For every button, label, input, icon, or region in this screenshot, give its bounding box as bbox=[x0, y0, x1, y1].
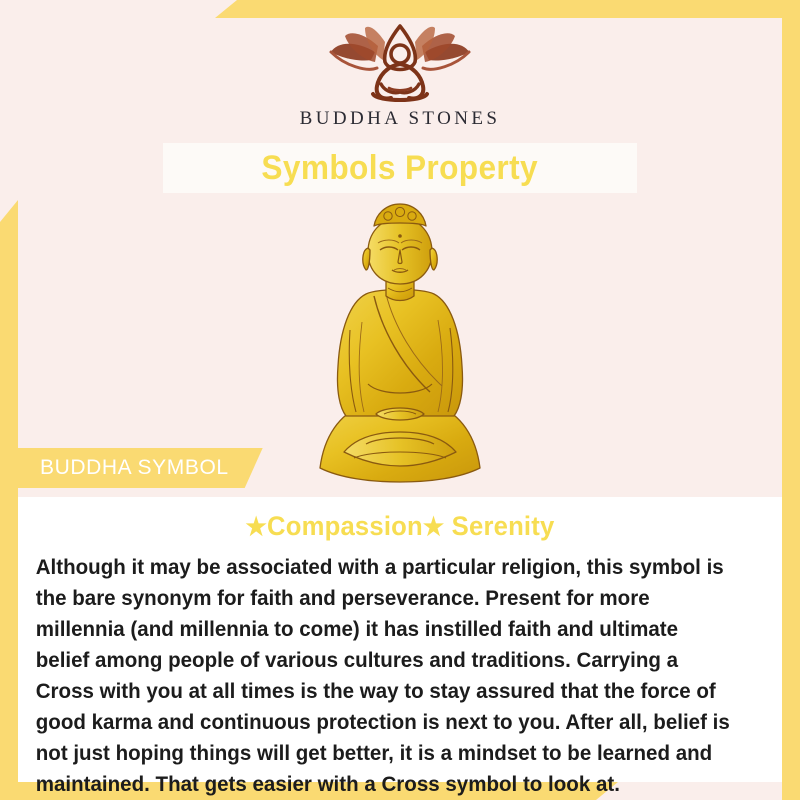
brand-logo: BUDDHA STONES bbox=[0, 22, 800, 130]
decorative-band-left bbox=[0, 200, 18, 800]
infographic-poster: BUDDHA STONES Symbols Property bbox=[0, 0, 800, 800]
section-ribbon: BUDDHA SYMBOL bbox=[18, 448, 263, 488]
star-icon-1: ★ bbox=[246, 513, 267, 541]
content-subtitle: ★Compassion★ Serenity bbox=[49, 511, 752, 542]
ribbon-label: BUDDHA SYMBOL bbox=[40, 456, 229, 480]
page-title: Symbols Property bbox=[262, 149, 539, 188]
lotus-meditation-figure-icon bbox=[315, 22, 485, 104]
buddha-illustration bbox=[310, 200, 490, 492]
content-card: ★Compassion★ Serenity Although it may be… bbox=[18, 497, 782, 782]
star-icon-2: ★ bbox=[423, 513, 444, 541]
keyword-serenity: Serenity bbox=[452, 511, 555, 541]
brand-wordmark: BUDDHA STONES bbox=[300, 108, 501, 130]
seated-golden-buddha-icon bbox=[310, 200, 490, 492]
decorative-band-top bbox=[215, 0, 800, 18]
keyword-compassion: Compassion bbox=[267, 511, 423, 541]
title-banner: Symbols Property bbox=[163, 143, 637, 193]
content-body: Although it may be associated with a par… bbox=[30, 552, 737, 800]
